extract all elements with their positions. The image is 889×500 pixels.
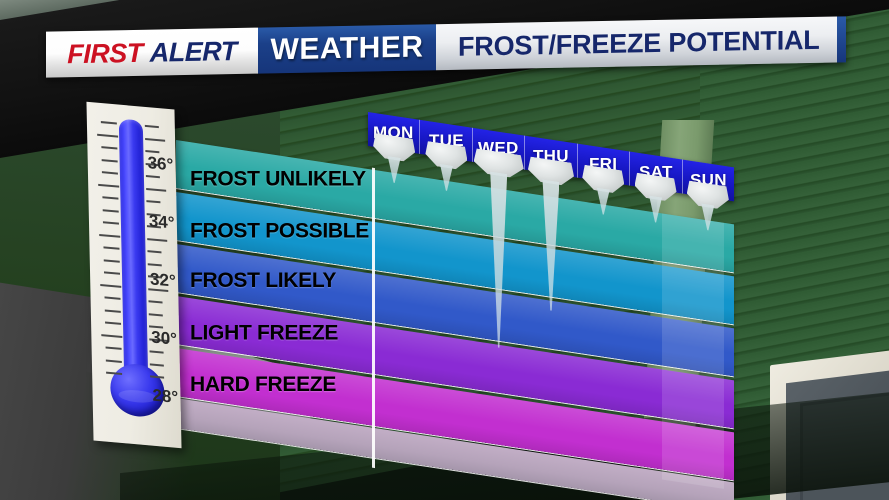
page-title: FROST/FREEZE POTENTIAL xyxy=(458,24,820,62)
icicle-spike xyxy=(542,179,559,312)
icicle-sun xyxy=(687,180,729,233)
thermometer-scale-label: 30° xyxy=(151,328,177,350)
thermometer-tick xyxy=(102,159,118,162)
icicle-fri xyxy=(582,164,624,217)
thermometer-tick xyxy=(146,200,160,203)
thermometer-tick xyxy=(148,263,162,266)
thermometer-tick xyxy=(104,259,120,262)
band-label: LIGHT FREEZE xyxy=(190,321,338,345)
thermometer-tick xyxy=(103,246,119,249)
thermometer-scale-label: 28° xyxy=(152,386,178,408)
first-alert-logo: FIRST ALERT xyxy=(46,28,258,78)
band-label: FROST POSSIBLE xyxy=(190,220,369,244)
icicle-spike xyxy=(597,188,610,216)
band-label: FROST LIKELY xyxy=(190,269,336,293)
thermometer-tick xyxy=(104,271,120,274)
thermometer-tick xyxy=(145,137,165,141)
thermometer-tick xyxy=(103,221,119,224)
icicle-spike xyxy=(649,196,662,224)
thermometer-tick xyxy=(150,350,164,353)
graphic-title-block: FROST/FREEZE POTENTIAL xyxy=(436,16,837,70)
icicle-spike xyxy=(388,156,401,184)
thermometer-tick xyxy=(100,284,121,288)
column-divider xyxy=(372,168,375,468)
thermometer-tick xyxy=(145,125,159,128)
thermometer-tick xyxy=(103,209,119,212)
icicle-spike xyxy=(490,171,507,349)
icicle-wed xyxy=(474,148,524,352)
band-label: FROST UNLIKELY xyxy=(190,167,366,191)
weather-label-text: WEATHER xyxy=(271,30,424,67)
thermometer-scale-label: 36° xyxy=(147,153,173,175)
thermometer-tick xyxy=(99,233,120,237)
icicle-thu xyxy=(528,156,574,314)
thermometer-tick xyxy=(102,196,118,199)
banner-end-cap xyxy=(837,16,846,62)
weather-graphic: FIRST ALERT WEATHER FROST/FREEZE POTENTI… xyxy=(0,0,889,500)
thermometer-tick xyxy=(101,334,122,338)
thermometer-tick xyxy=(105,309,121,312)
icicle-spike xyxy=(701,203,714,231)
thermometer-tick xyxy=(147,238,167,242)
thermometer-tube xyxy=(119,119,148,382)
band-label: HARD FREEZE xyxy=(190,373,336,397)
thermometer-tick xyxy=(146,188,166,192)
thermometer-tick xyxy=(101,121,117,124)
icicle-tue xyxy=(425,141,467,194)
thermometer-tick xyxy=(150,363,164,366)
thermometer-tick xyxy=(97,133,118,137)
thermometer-scale-label: 34° xyxy=(149,211,175,233)
logo-first-text: FIRST xyxy=(67,37,143,69)
thermometer-tick xyxy=(102,171,118,174)
thermometer-tick xyxy=(101,146,117,149)
weather-label-block: WEATHER xyxy=(258,24,436,73)
thermometer-tick xyxy=(106,359,122,362)
thermometer-tick xyxy=(105,296,121,299)
thermometer-tick xyxy=(98,183,119,187)
thermometer-tick xyxy=(106,347,122,350)
thermometer-tick xyxy=(148,300,162,303)
thermometer-tick xyxy=(147,250,161,253)
icicle-spike xyxy=(440,164,453,192)
thermometer: 36°34°32°30°28° xyxy=(86,102,181,448)
logo-alert-text: ALERT xyxy=(150,36,237,69)
thermometer-tick xyxy=(149,313,163,316)
icicle-sat xyxy=(635,172,677,225)
thermometer-scale-label: 32° xyxy=(150,269,176,291)
icicle-mon xyxy=(373,133,415,186)
thermometer-tick xyxy=(105,321,121,324)
thermometer-tick xyxy=(146,175,160,178)
